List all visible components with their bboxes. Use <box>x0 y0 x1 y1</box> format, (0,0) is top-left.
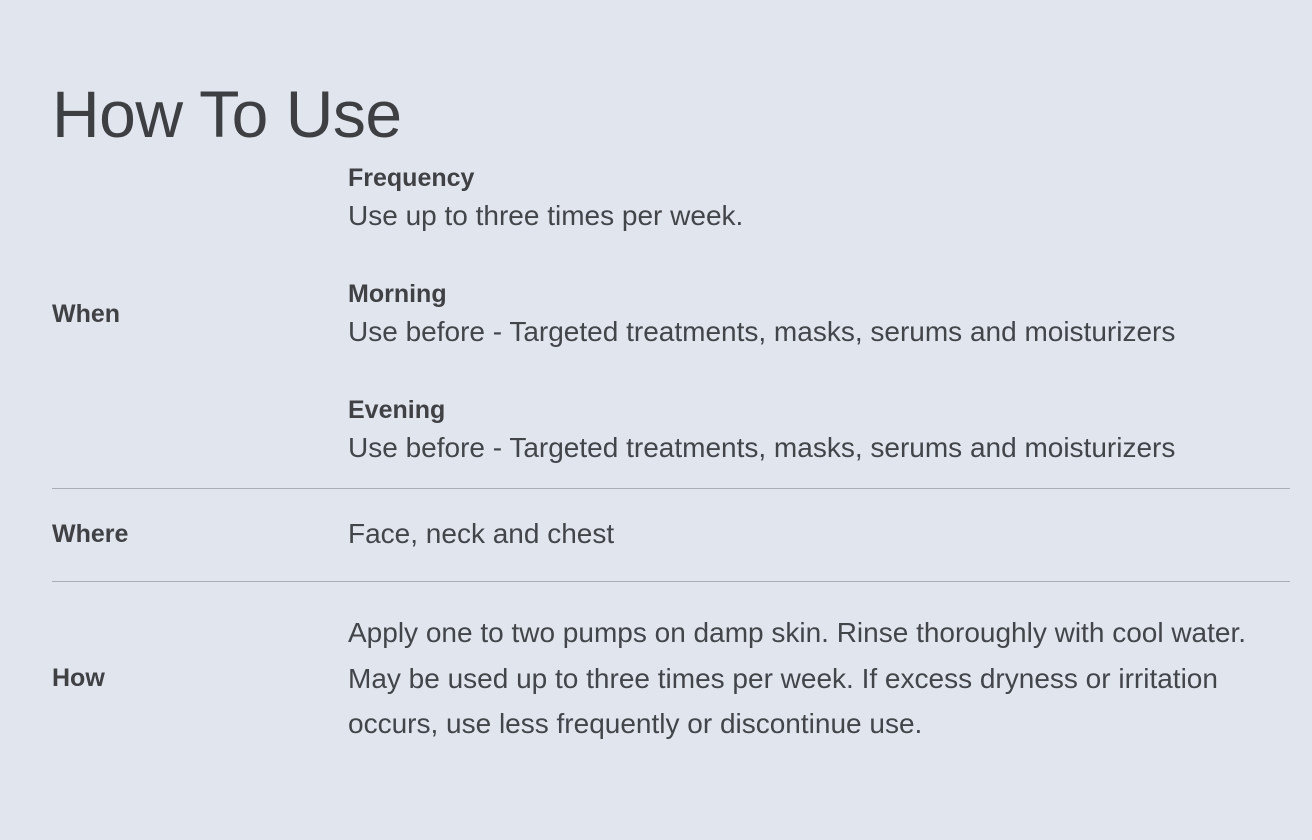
subblock-text-morning: Use before - Targeted treatments, masks,… <box>348 313 1280 352</box>
subblock-text-frequency: Use up to three times per week. <box>348 197 1280 236</box>
table-row-how: How Apply one to two pumps on damp skin.… <box>52 581 1290 776</box>
subblock-title-frequency: Frequency <box>348 160 1280 196</box>
subblock-title-evening: Evening <box>348 392 1280 428</box>
row-label-how: How <box>52 662 348 695</box>
row-label-where: Where <box>52 518 348 551</box>
subblock-title-morning: Morning <box>348 276 1280 312</box>
page-title: How To Use <box>52 80 402 149</box>
table-row-when: When Frequency Use up to three times per… <box>52 152 1290 488</box>
row-content-when: Frequency Use up to three times per week… <box>348 160 1280 468</box>
row-label-when: When <box>52 298 348 331</box>
how-to-use-page: How To Use When Frequency Use up to thre… <box>0 0 1312 840</box>
subblock-morning: Morning Use before - Targeted treatments… <box>348 276 1280 352</box>
row-value-where: Face, neck and chest <box>348 515 1280 554</box>
subblock-frequency: Frequency Use up to three times per week… <box>348 160 1280 236</box>
row-content-where: Face, neck and chest <box>348 515 1280 554</box>
subblock-evening: Evening Use before - Targeted treatments… <box>348 392 1280 468</box>
subblock-text-evening: Use before - Targeted treatments, masks,… <box>348 429 1280 468</box>
table-row-where: Where Face, neck and chest <box>52 488 1290 582</box>
how-to-use-table: When Frequency Use up to three times per… <box>52 152 1290 776</box>
row-content-how: Apply one to two pumps on damp skin. Rin… <box>348 610 1280 746</box>
row-value-how: Apply one to two pumps on damp skin. Rin… <box>348 610 1278 746</box>
